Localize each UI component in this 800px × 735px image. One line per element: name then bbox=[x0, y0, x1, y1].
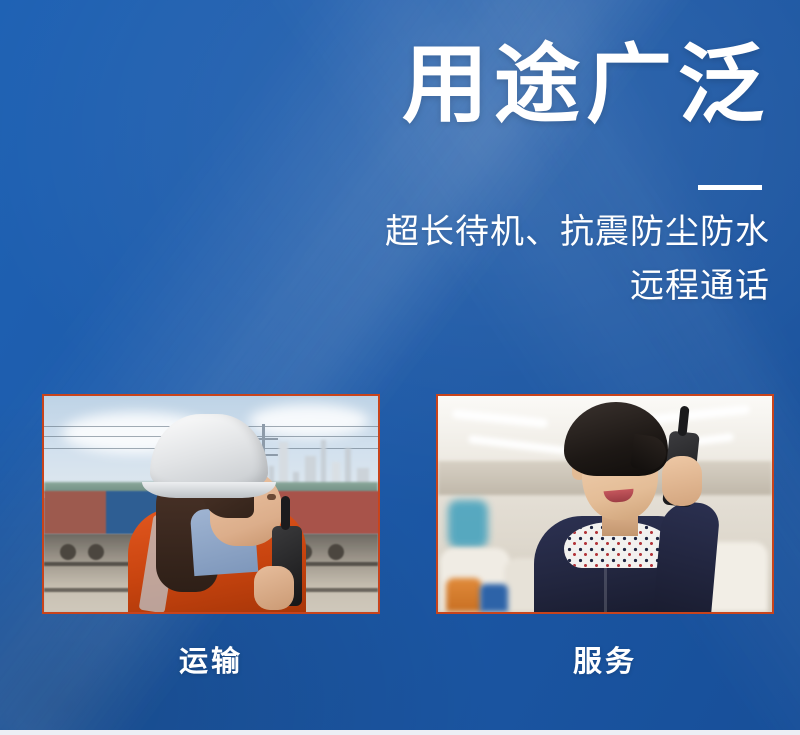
banner-title: 用途广泛 bbox=[210, 42, 770, 128]
banner-subtitle: 超长待机、抗震防尘防水 远程通话 bbox=[210, 206, 770, 313]
safety-helmet-icon bbox=[150, 414, 268, 494]
service-photo-frame bbox=[436, 394, 774, 614]
subtitle-line-2: 远程通话 bbox=[210, 260, 770, 314]
seat-accent-blue bbox=[480, 584, 508, 612]
attendant-hand bbox=[662, 456, 702, 506]
cabin-attendant-photo bbox=[438, 396, 772, 612]
seat-accent-orange bbox=[446, 578, 482, 612]
attendant-hair bbox=[564, 402, 668, 476]
scenario-card-service: 服务 bbox=[436, 394, 774, 680]
bottom-edge-strip bbox=[0, 730, 800, 735]
title-divider-rule bbox=[698, 185, 762, 190]
usage-scenario-cards: 运输 bbox=[42, 394, 774, 680]
worker-figure bbox=[122, 412, 312, 612]
transport-photo-frame bbox=[42, 394, 380, 614]
headline-block: 用途广泛 超长待机、抗震防尘防水 远程通话 bbox=[210, 42, 770, 313]
scenario-card-transport: 运输 bbox=[42, 394, 380, 680]
rail-yard-worker-photo bbox=[44, 396, 378, 612]
product-feature-banner: 用途广泛 超长待机、抗震防尘防水 远程通话 bbox=[0, 0, 800, 735]
scenario-caption-service: 服务 bbox=[436, 638, 774, 680]
scenario-caption-transport: 运输 bbox=[42, 638, 380, 680]
subtitle-line-1: 超长待机、抗震防尘防水 bbox=[210, 206, 770, 260]
worker-hand bbox=[254, 566, 294, 610]
attendant-figure bbox=[508, 402, 718, 612]
attendant-arm bbox=[653, 500, 720, 614]
